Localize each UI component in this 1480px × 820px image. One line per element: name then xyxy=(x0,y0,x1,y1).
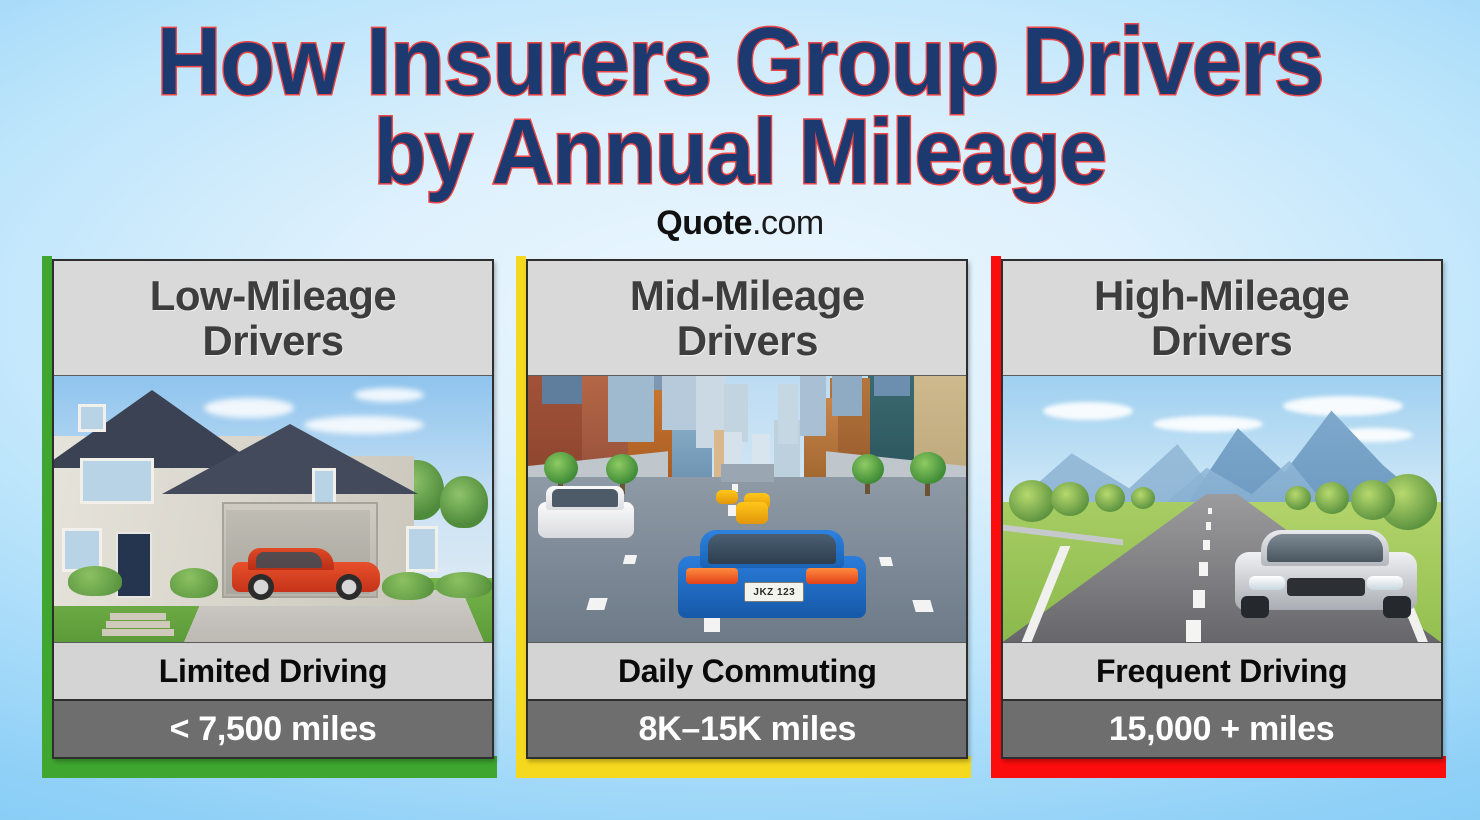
mileage-card-mid: Mid-Mileage Drivers xyxy=(516,256,965,778)
card-title-line2-mid: Drivers xyxy=(677,317,818,364)
accent-bar-bottom-mid xyxy=(516,756,971,778)
card-stat-high: 15,000 + miles xyxy=(1003,701,1441,757)
blue-sedan: JKZ 123 xyxy=(678,524,866,628)
card-stat-mid: 8K–15K miles xyxy=(528,701,966,757)
infographic-canvas: How Insurers Group Drivers by Annual Mil… xyxy=(0,0,1480,820)
brand-name: Quote xyxy=(656,204,752,242)
card-title-line1-high: High-Mileage xyxy=(1094,272,1349,319)
license-plate: JKZ 123 xyxy=(744,582,804,602)
title-line-1: How Insurers Group Drivers xyxy=(52,16,1428,108)
card-title-line1-low: Low-Mileage xyxy=(150,272,397,319)
brand-tld: .com xyxy=(752,204,824,242)
accent-bar-mid xyxy=(516,256,526,778)
card-subtitle-mid: Daily Commuting xyxy=(528,642,966,701)
card-subtitle-high: Frequent Driving xyxy=(1003,642,1441,701)
accent-bar-high xyxy=(991,256,1001,778)
card-image-high xyxy=(1003,376,1441,642)
card-image-low xyxy=(54,376,492,642)
card-header-high: High-Mileage Drivers xyxy=(1003,261,1441,376)
mileage-card-row: Low-Mileage Drivers xyxy=(42,256,1440,778)
accent-bar-bottom-high xyxy=(991,756,1446,778)
red-sedan xyxy=(232,548,380,600)
card-title-line1-mid: Mid-Mileage xyxy=(630,272,865,319)
white-suv xyxy=(538,484,634,546)
title-line-2: by Annual Mileage xyxy=(52,108,1428,196)
card-header-low: Low-Mileage Drivers xyxy=(54,261,492,376)
accent-bar-bottom-low xyxy=(42,756,497,778)
card-title-line2-low: Drivers xyxy=(202,317,343,364)
accent-bar-low xyxy=(42,256,52,778)
mileage-card-high: High-Mileage Drivers xyxy=(991,256,1440,778)
card-image-mid: JKZ 123 xyxy=(528,376,966,642)
page-title: How Insurers Group Drivers by Annual Mil… xyxy=(0,16,1480,196)
card-subtitle-low: Limited Driving xyxy=(54,642,492,701)
card-stat-low: < 7,500 miles xyxy=(54,701,492,757)
card-header-mid: Mid-Mileage Drivers xyxy=(528,261,966,376)
silver-sedan xyxy=(1235,524,1417,620)
mileage-card-low: Low-Mileage Drivers xyxy=(42,256,491,778)
brand-logo: Quote.com xyxy=(0,206,1480,240)
card-title-line2-high: Drivers xyxy=(1151,317,1292,364)
